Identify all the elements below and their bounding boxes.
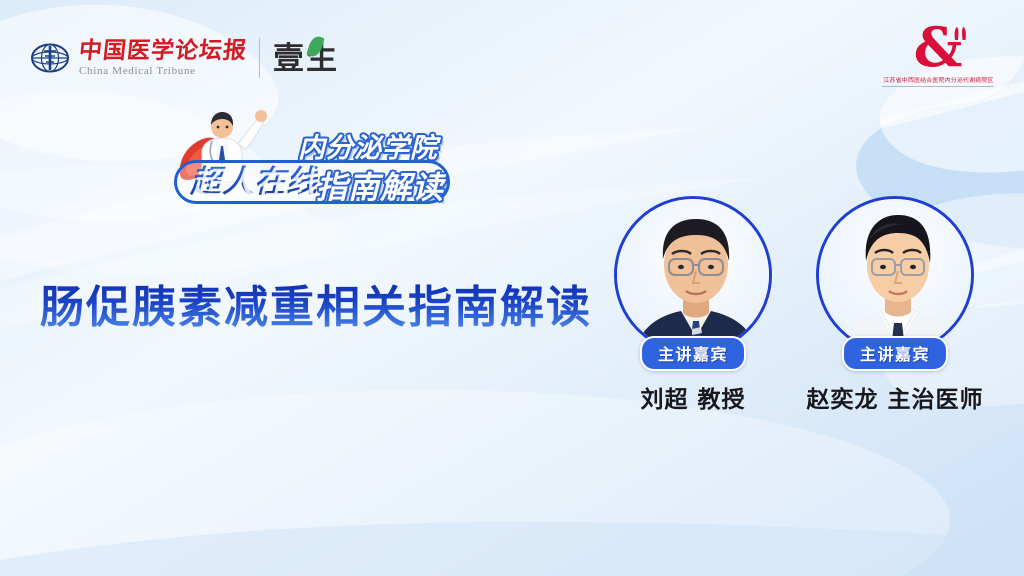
ampersand-mark: & [914, 22, 963, 73]
page-title: 肠促胰素减重相关指南解读 [40, 283, 592, 332]
program-branding: 超人在线 内分泌学院 指南解读 [168, 112, 498, 208]
logo-divider [259, 38, 260, 78]
speaker-card: 主讲嘉宾 赵奕龙 主治医师 [802, 196, 988, 414]
webinar-poster: 中国医学论坛报 China Medical Tribune 壹生 & 江苏省中西… [0, 0, 1024, 576]
speaker-name: 刘超 教授 [640, 380, 745, 414]
program-badge-label: 超人在线 [190, 161, 318, 203]
yisheng-text: 壹生 [273, 41, 339, 77]
program-subtitle-line1: 内分泌学院 [298, 126, 438, 165]
ampersand-glyph: & [914, 15, 963, 79]
avatar [816, 196, 974, 354]
speaker-portrait-icon [617, 199, 772, 354]
speaker-portrait-icon [819, 199, 974, 354]
speaker-list: 主讲嘉宾 刘超 教授 [600, 196, 1000, 414]
cmt-wordmark: 中国医学论坛报 China Medical Tribune [79, 39, 247, 77]
yisheng-subbrand: 壹生 [273, 42, 339, 75]
globe-icon [30, 38, 70, 78]
status-badge: 主讲嘉宾 [640, 336, 746, 371]
program-subtitle-line2: 指南解读 [316, 162, 444, 207]
cmt-logo: 中国医学论坛报 China Medical Tribune 壹生 [30, 32, 339, 84]
rabbit-ears-icon [953, 26, 968, 41]
partner-caption: 江苏省中西医结合医院内分泌代谢病院区 [883, 75, 993, 84]
partner-rule [882, 86, 994, 87]
avatar [614, 196, 772, 354]
speaker-name: 赵奕龙 主治医师 [806, 380, 983, 414]
partner-logo: & 江苏省中西医结合医院内分泌代谢病院区 [868, 22, 1008, 87]
cmt-chinese-name: 中国医学论坛报 [78, 39, 249, 63]
speaker-card: 主讲嘉宾 刘超 教授 [600, 196, 786, 414]
status-badge: 主讲嘉宾 [842, 336, 948, 371]
cmt-english-name: China Medical Tribune [79, 65, 196, 77]
